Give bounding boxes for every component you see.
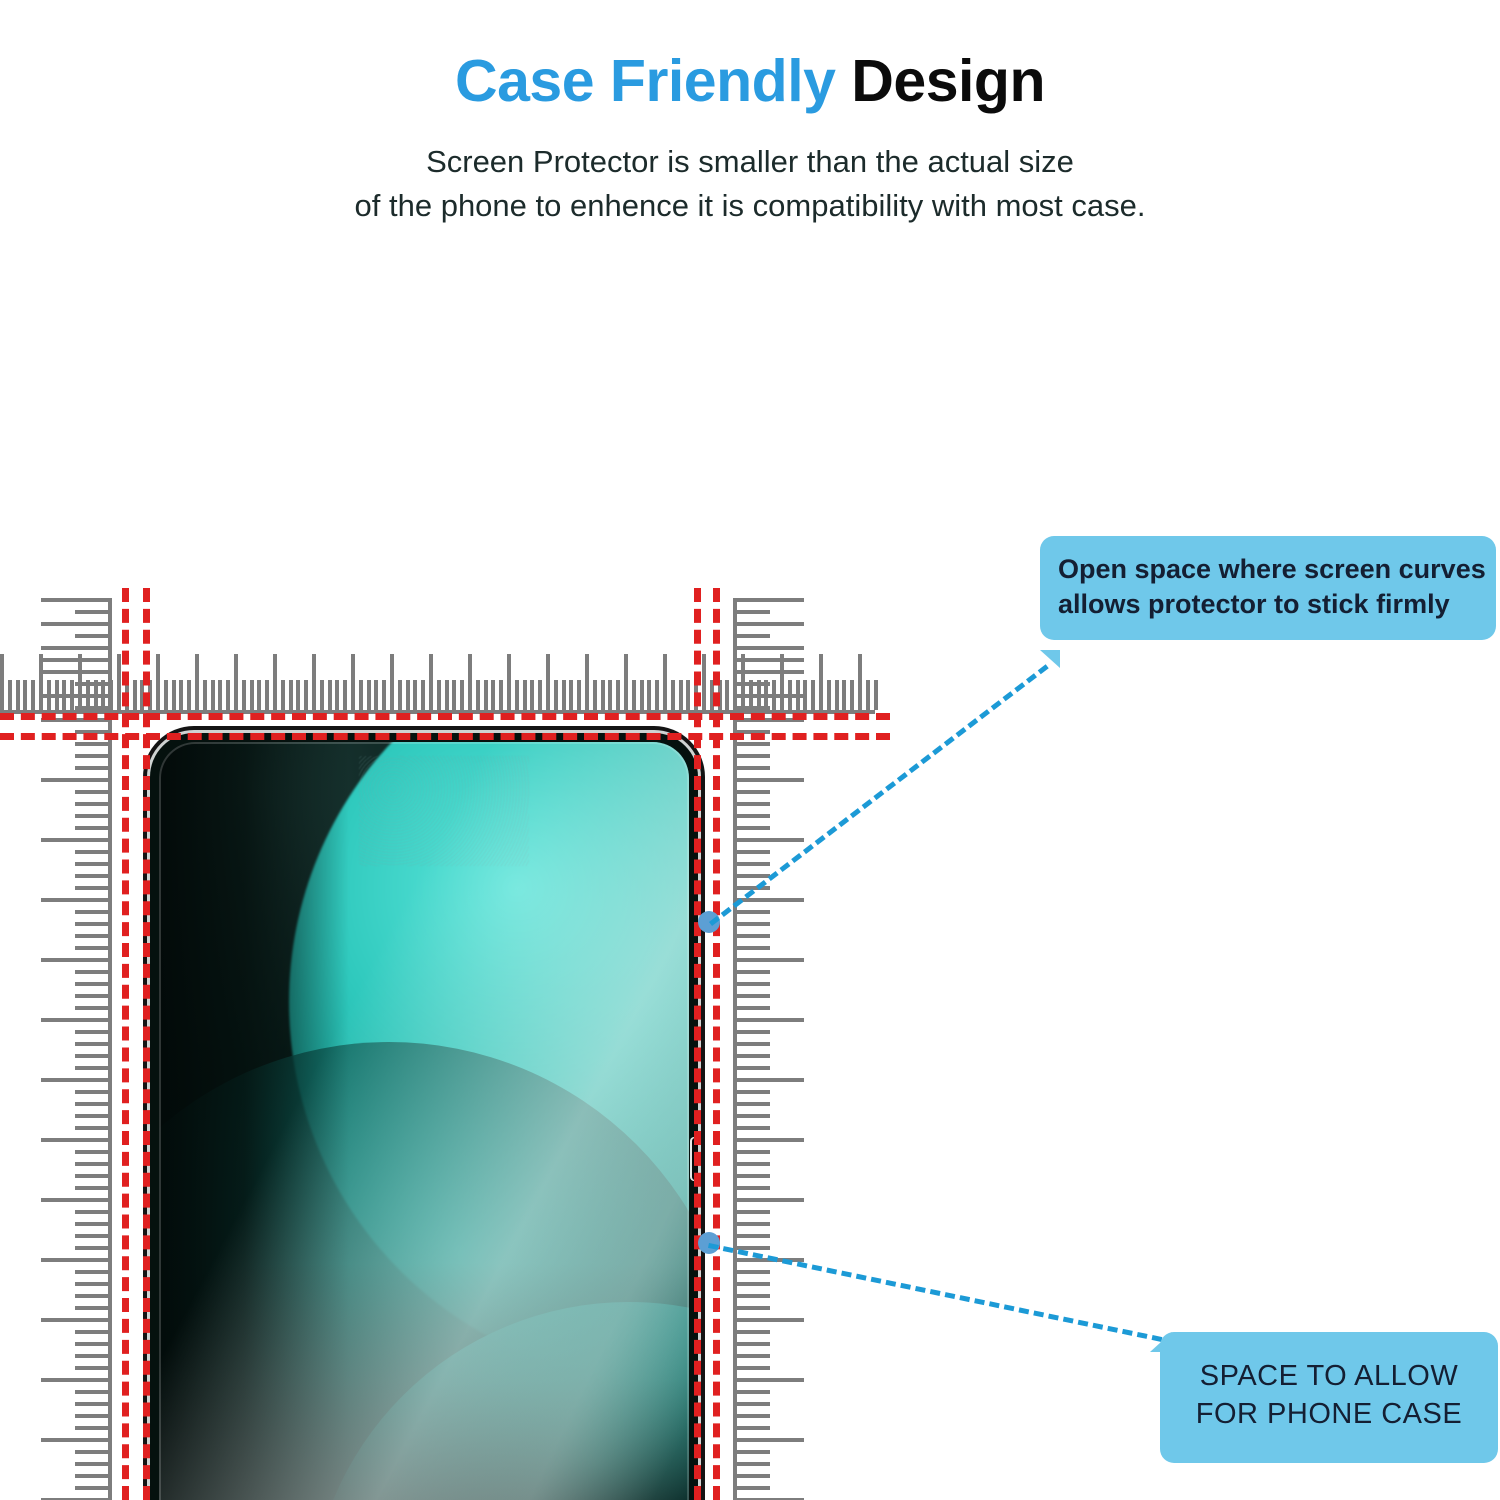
ruler-tick-minor xyxy=(172,680,176,710)
ruler-corner-tick xyxy=(737,706,770,710)
ruler-tick-minor xyxy=(737,1114,770,1118)
ruler-tick-minor xyxy=(737,1414,770,1418)
guide-vertical-outer-right xyxy=(713,588,720,1500)
ruler-tick-minor xyxy=(75,802,108,806)
ruler-tick-minor xyxy=(737,1342,770,1346)
ruler-tick-minor xyxy=(562,680,566,710)
ruler-tick-minor xyxy=(75,1270,108,1274)
ruler-tick-minor xyxy=(608,680,612,710)
ruler-tick-minor xyxy=(866,680,870,710)
ruler-tick-minor xyxy=(452,680,456,710)
ruler-corner-tick xyxy=(737,598,804,602)
ruler-tick-major xyxy=(195,654,199,710)
ruler-tick-minor xyxy=(737,1330,770,1334)
ruler-tick-minor xyxy=(203,680,207,710)
ruler-tick-minor xyxy=(616,680,620,710)
ruler-tick-minor xyxy=(737,1462,770,1466)
ruler-corner-tick xyxy=(41,646,108,650)
smartphone-device xyxy=(150,733,698,1500)
callout-open-space-line-1: Open space where screen curves xyxy=(1058,552,1478,587)
ruler-tick-minor xyxy=(737,1354,770,1358)
ruler-tick-minor xyxy=(569,680,573,710)
ruler-tick-minor xyxy=(75,1126,108,1130)
ruler-tick-minor xyxy=(737,814,770,818)
ruler-tick-major xyxy=(234,654,238,710)
ruler-corner-tick xyxy=(75,610,108,614)
ruler-tick-minor xyxy=(75,850,108,854)
ruler-tick-minor xyxy=(70,680,74,710)
ruler-tick-minor xyxy=(737,1390,770,1394)
ruler-tick-minor xyxy=(75,1486,108,1490)
ruler-tick-minor xyxy=(737,1366,770,1370)
ruler-corner-tick xyxy=(41,598,108,602)
ruler-tick-minor xyxy=(75,1006,108,1010)
ruler-tick-major xyxy=(156,654,160,710)
ruler-tick-minor xyxy=(367,680,371,710)
ruler-tick-minor xyxy=(874,680,878,710)
ruler-tick-minor xyxy=(491,680,495,710)
ruler-tick-minor xyxy=(737,1450,770,1454)
ruler-tick-minor xyxy=(75,886,108,890)
ruler-corner-tick xyxy=(75,658,108,662)
ruler-tick-minor xyxy=(75,1426,108,1430)
ruler-tick-minor xyxy=(554,680,558,710)
ruler-tick-minor xyxy=(737,1126,770,1130)
ruler-tick-minor xyxy=(538,680,542,710)
ruler-tick-minor xyxy=(211,680,215,710)
ruler-corner-tick xyxy=(75,634,108,638)
ruler-tick-minor xyxy=(737,1042,770,1046)
ruler-tick-minor xyxy=(304,680,308,710)
ruler-tick-minor xyxy=(737,742,770,746)
ruler-tick-minor xyxy=(460,680,464,710)
ruler-tick-minor xyxy=(679,680,683,710)
ruler-tick-minor xyxy=(647,680,651,710)
ruler-tick-minor xyxy=(265,680,269,710)
ruler-tick-minor xyxy=(242,680,246,710)
ruler-tick-major xyxy=(737,1078,804,1082)
ruler-tick-minor xyxy=(164,680,168,710)
ruler-tick-minor xyxy=(75,874,108,878)
ruler-tick-major xyxy=(41,898,108,902)
ruler-tick-major xyxy=(468,654,472,710)
ruler-tick-major xyxy=(737,1318,804,1322)
ruler-tick-minor xyxy=(75,910,108,914)
ruler-tick-major xyxy=(737,778,804,782)
ruler-corner-tick xyxy=(737,658,770,662)
ruler-tick-major xyxy=(507,654,511,710)
ruler-tick-minor xyxy=(737,1030,770,1034)
ruler-corner-tick xyxy=(41,670,108,674)
ruler-tick-major xyxy=(737,958,804,962)
ruler-tick-minor xyxy=(737,790,770,794)
ruler-tick-minor xyxy=(75,1054,108,1058)
ruler-tick-major xyxy=(41,1018,108,1022)
ruler-tick-major xyxy=(41,838,108,842)
ruler-tick-minor xyxy=(382,680,386,710)
ruler-tick-major xyxy=(702,654,706,710)
ruler-tick-minor xyxy=(179,680,183,710)
callout-open-space-line-2: allows protector to stick firmly xyxy=(1058,587,1478,622)
ruler-tick-minor xyxy=(16,680,20,710)
ruler-tick-minor xyxy=(437,680,441,710)
ruler-tick-major xyxy=(819,654,823,710)
ruler-tick-minor xyxy=(75,1294,108,1298)
ruler-tick-major xyxy=(737,1378,804,1382)
ruler-tick-minor xyxy=(75,1222,108,1226)
guide-horizontal-inner-top xyxy=(0,733,890,740)
ruler-tick-minor xyxy=(75,1066,108,1070)
guide-vertical-outer-left xyxy=(122,588,129,1500)
ruler-tick-minor xyxy=(445,680,449,710)
ruler-tick-minor xyxy=(86,680,90,710)
ruler-tick-major xyxy=(41,1198,108,1202)
ruler-tick-major xyxy=(624,654,628,710)
ruler-tick-minor xyxy=(218,680,222,710)
ruler-tick-minor xyxy=(406,680,410,710)
ruler-tick-major xyxy=(41,1438,108,1442)
ruler-tick-minor xyxy=(23,680,27,710)
ruler-tick-minor xyxy=(737,1090,770,1094)
guide-vertical-inner-right xyxy=(694,588,701,1500)
ruler-tick-minor xyxy=(75,922,108,926)
ruler-tick-major xyxy=(390,654,394,710)
ruler-corner-tick xyxy=(737,610,770,614)
ruler-tick-minor xyxy=(75,934,108,938)
ruler-tick-minor xyxy=(75,946,108,950)
ruler-tick-minor xyxy=(737,994,770,998)
ruler-tick-major xyxy=(585,654,589,710)
ruler-tick-minor xyxy=(835,680,839,710)
ruler-tick-minor xyxy=(75,790,108,794)
ruler-tick-minor xyxy=(737,1150,770,1154)
ruler-tick-minor xyxy=(226,680,230,710)
ruler-tick-minor xyxy=(577,680,581,710)
ruler-tick-major xyxy=(273,654,277,710)
ruler-tick-major xyxy=(312,654,316,710)
ruler-tick-minor xyxy=(75,1150,108,1154)
ruler-tick-major xyxy=(780,654,784,710)
ruler-tick-minor xyxy=(75,1186,108,1190)
ruler-tick-minor xyxy=(737,1222,770,1226)
ruler-tick-minor xyxy=(655,680,659,710)
ruler-tick-major xyxy=(41,1318,108,1322)
ruler-tick-minor xyxy=(75,766,108,770)
ruler-tick-major xyxy=(41,1078,108,1082)
ruler-tick-minor xyxy=(737,970,770,974)
ruler-tick-minor xyxy=(593,680,597,710)
ruler-tick-minor xyxy=(75,1114,108,1118)
ruler-tick-minor xyxy=(31,680,35,710)
ruler-tick-minor xyxy=(737,922,770,926)
callout-open-space: Open space where screen curves allows pr… xyxy=(1040,536,1496,640)
ruler-tick-minor xyxy=(737,1210,770,1214)
ruler-tick-minor xyxy=(75,1342,108,1346)
ruler-tick-minor xyxy=(671,680,675,710)
ruler-tick-minor xyxy=(601,680,605,710)
ruler-corner-tick xyxy=(737,682,770,686)
ruler-tick-minor xyxy=(515,680,519,710)
ruler-tick-minor xyxy=(842,680,846,710)
screen-glare-secondary xyxy=(279,742,689,1500)
ruler-tick-minor xyxy=(343,680,347,710)
ruler-tick-minor xyxy=(737,1270,770,1274)
ruler-tick-minor xyxy=(75,1474,108,1478)
ruler-tick-minor xyxy=(328,680,332,710)
ruler-corner-tick xyxy=(737,634,770,638)
ruler-tick-major xyxy=(41,958,108,962)
ruler-tick-minor xyxy=(281,680,285,710)
ruler-tick-minor xyxy=(187,680,191,710)
guide-horizontal-outer-top xyxy=(0,713,890,720)
ruler-tick-major xyxy=(737,838,804,842)
ruler-corner-tick xyxy=(737,694,804,698)
ruler-tick-minor xyxy=(75,1306,108,1310)
ruler-tick-minor xyxy=(0,680,4,710)
ruler-tick-minor xyxy=(75,1366,108,1370)
ruler-tick-minor xyxy=(75,1174,108,1178)
ruler-tick-minor xyxy=(737,1426,770,1430)
ruler-tick-minor xyxy=(640,680,644,710)
callout-phone-case-line-1: SPACE TO ALLOW xyxy=(1174,1358,1484,1396)
callout-phone-case-line-2: FOR PHONE CASE xyxy=(1174,1396,1484,1434)
ruler-tick-minor xyxy=(737,1186,770,1190)
ruler-corner-tick xyxy=(737,646,804,650)
ruler-tick-minor xyxy=(499,680,503,710)
phone-screen xyxy=(159,742,689,1500)
ruler-tick-minor xyxy=(811,680,815,710)
ruler-tick-minor xyxy=(8,680,12,710)
ruler-tick-minor xyxy=(737,754,770,758)
ruler-tick-minor xyxy=(133,680,137,710)
ruler-tick-minor xyxy=(737,910,770,914)
ruler-tick-minor xyxy=(75,1234,108,1238)
ruler-tick-minor xyxy=(398,680,402,710)
ruler-tick-minor xyxy=(75,1414,108,1418)
ruler-tick-major xyxy=(737,1018,804,1022)
wallpaper xyxy=(159,742,689,1500)
infographic-canvas: Case Friendly Design Screen Protector is… xyxy=(0,0,1500,1500)
ruler-tick-minor xyxy=(75,1030,108,1034)
ruler-tick-minor xyxy=(75,1450,108,1454)
ruler-tick-minor xyxy=(737,1234,770,1238)
callout-tail-open-space xyxy=(1040,650,1060,668)
ruler-tick-minor xyxy=(75,1210,108,1214)
ruler-tick-minor xyxy=(75,814,108,818)
ruler-tick-minor xyxy=(75,1330,108,1334)
ruler-tick-minor xyxy=(737,1282,770,1286)
ruler-tick-minor xyxy=(289,680,293,710)
ruler-tick-minor xyxy=(686,680,690,710)
ruler-tick-minor xyxy=(737,1294,770,1298)
ruler-corner-tick xyxy=(737,622,804,626)
ruler-tick-minor xyxy=(75,1282,108,1286)
ruler-tick-minor xyxy=(78,680,82,710)
ruler-tick-minor xyxy=(75,1162,108,1166)
ruler-tick-minor xyxy=(827,680,831,710)
ruler-tick-minor xyxy=(530,680,534,710)
ruler-tick-minor xyxy=(47,680,51,710)
ruler-tick-minor xyxy=(94,680,98,710)
ruler-tick-major xyxy=(737,1438,804,1442)
ruler-tick-minor xyxy=(320,680,324,710)
ruler-tick-minor xyxy=(359,680,363,710)
ruler-tick-minor xyxy=(737,766,770,770)
ruler-tick-minor xyxy=(75,1402,108,1406)
ruler-tick-major xyxy=(737,1138,804,1142)
ruler-tick-minor xyxy=(75,742,108,746)
ruler-tick-minor xyxy=(75,1102,108,1106)
ruler-tick-minor xyxy=(737,1102,770,1106)
ruler-tick-major xyxy=(663,654,667,710)
ruler-corner-tick xyxy=(41,622,108,626)
ruler-tick-minor xyxy=(737,1162,770,1166)
ruler-tick-minor xyxy=(737,1402,770,1406)
ruler-tick-minor xyxy=(296,680,300,710)
guide-vertical-inner-left xyxy=(143,588,150,1500)
ruler-tick-minor xyxy=(250,680,254,710)
ruler-tick-minor xyxy=(737,1474,770,1478)
ruler-tick-minor xyxy=(725,680,729,710)
ruler-tick-minor xyxy=(476,680,480,710)
ruler-tick-minor xyxy=(737,1306,770,1310)
ruler-tick-minor xyxy=(75,982,108,986)
ruler-tick-minor xyxy=(75,1042,108,1046)
ruler-tick-minor xyxy=(75,826,108,830)
ruler-tick-minor xyxy=(75,862,108,866)
ruler-tick-minor xyxy=(75,1354,108,1358)
ruler-tick-minor xyxy=(75,994,108,998)
ruler-tick-minor xyxy=(737,1066,770,1070)
ruler-tick-major xyxy=(351,654,355,710)
ruler-tick-minor xyxy=(737,1054,770,1058)
ruler-tick-minor xyxy=(55,680,59,710)
ruler-tick-major xyxy=(41,1378,108,1382)
ruler-tick-minor xyxy=(75,754,108,758)
ruler-tick-major xyxy=(41,1138,108,1142)
ruler-tick-minor xyxy=(484,680,488,710)
ruler-tick-major xyxy=(429,654,433,710)
ruler-tick-minor xyxy=(374,680,378,710)
ruler-tick-minor xyxy=(737,934,770,938)
ruler-tick-minor xyxy=(737,1006,770,1010)
ruler-tick-minor xyxy=(75,1390,108,1394)
ruler-tick-minor xyxy=(75,1462,108,1466)
ruler-tick-minor xyxy=(75,1246,108,1250)
ruler-tick-minor xyxy=(737,826,770,830)
ruler-tick-minor xyxy=(523,680,527,710)
ruler-tick-minor xyxy=(75,1090,108,1094)
ruler-tick-major xyxy=(737,1198,804,1202)
ruler-tick-major xyxy=(41,1258,108,1262)
ruler-tick-major xyxy=(117,654,121,710)
ruler-tick-minor xyxy=(850,680,854,710)
ruler-tick-major xyxy=(546,654,550,710)
ruler-tick-major xyxy=(858,654,862,710)
ruler-tick-minor xyxy=(75,970,108,974)
ruler-tick-minor xyxy=(737,802,770,806)
ruler-tick-minor xyxy=(737,982,770,986)
ruler-tick-minor xyxy=(62,680,66,710)
ruler-tick-minor xyxy=(335,680,339,710)
ruler-tick-minor xyxy=(737,1174,770,1178)
ruler-corner-tick xyxy=(737,670,804,674)
ruler-tick-minor xyxy=(632,680,636,710)
ruler-tick-minor xyxy=(737,850,770,854)
ruler-tick-minor xyxy=(737,862,770,866)
ruler-tick-minor xyxy=(257,680,261,710)
ruler-tick-minor xyxy=(737,1486,770,1490)
callout-phone-case: SPACE TO ALLOW FOR PHONE CASE xyxy=(1160,1332,1498,1463)
ruler-tick-minor xyxy=(737,946,770,950)
ruler-tick-minor xyxy=(413,680,417,710)
ruler-tick-minor xyxy=(39,680,43,710)
ruler-tick-minor xyxy=(421,680,425,710)
ruler-tick-major xyxy=(41,778,108,782)
